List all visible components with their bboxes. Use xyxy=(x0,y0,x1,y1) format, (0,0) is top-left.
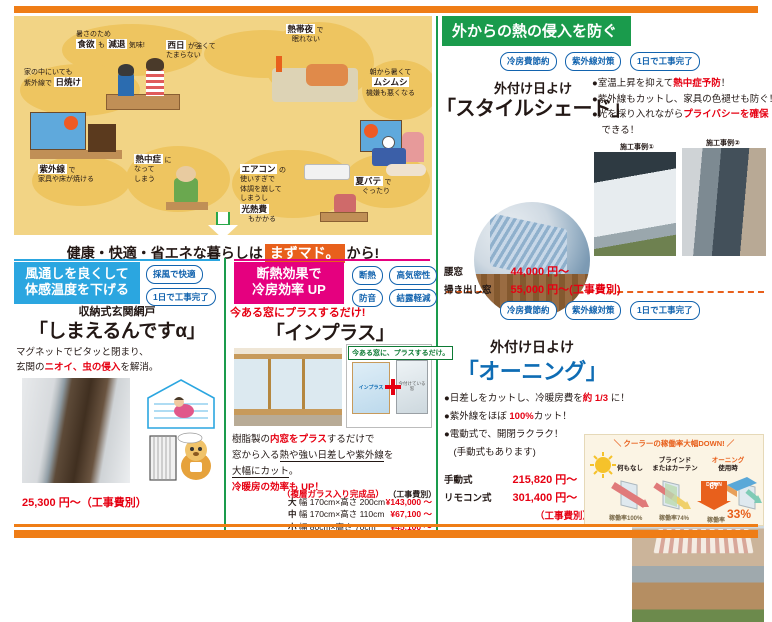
bullet-rb-1: ●紫外線をほぼ 100%カット！ xyxy=(444,408,614,426)
badge-rb-1[interactable]: 紫外線対策 xyxy=(565,301,622,320)
right-bottom-product-name: 「オーニング」 xyxy=(444,354,620,386)
bottom-orange-rule xyxy=(14,530,758,538)
middle-banner-line2: 冷房効率 UP xyxy=(244,282,334,298)
left-banner-line1: 風通しを良くして xyxy=(22,266,132,282)
cooler-label-0: 何もなし xyxy=(609,465,651,473)
plus-icon xyxy=(384,378,402,396)
top-orange-rule xyxy=(14,6,758,13)
photo-inplus-window xyxy=(234,348,342,426)
diagram-pane-existing-label: 今付けている窓 xyxy=(398,382,426,392)
infographic-cooler-usage: ＼ クーラーの稼働率大幅DOWN! ／ 何もなし ブラインドまたはカーテン オー… xyxy=(584,434,764,526)
illustration-child-table xyxy=(320,212,368,222)
badge-left-0[interactable]: 採風で快適 xyxy=(146,265,203,284)
vertical-separator-left xyxy=(224,258,226,530)
window-no-shade-icon xyxy=(611,479,651,511)
table-row: 大 幅 170cm×高さ 200cm ¥143,000 ～ xyxy=(288,496,432,508)
caption-indoor-sunburn: 家の中にいても 紫外線で 日焼け xyxy=(24,68,82,89)
caption-appetite: 暑さのため 食欲 も 減退 気味! xyxy=(76,30,145,51)
badge-rb-0[interactable]: 冷房費節約 xyxy=(500,301,557,320)
bullet-rt-3: できる！ xyxy=(592,123,770,139)
window-blind-icon xyxy=(653,479,697,511)
infographic-title: ＼ クーラーの稼働率大幅DOWN! ／ xyxy=(585,435,763,449)
right-top-bullets: ●室温上昇を抑えて熱中症予防！ ●紫外線もカットし、家具の色褪せも防ぐ！ ●光を… xyxy=(592,76,770,139)
cooler-foot-1: 稼働率74% xyxy=(659,513,689,522)
table-row: 中 幅 170cm×高さ 110cm ¥67,100 ～ xyxy=(288,508,432,520)
left-product-name: 「しまえるんですα」 xyxy=(10,316,224,343)
badge-middle-1[interactable]: 高気密性 xyxy=(389,266,437,285)
illustration-thermometer xyxy=(276,56,282,72)
bullet-rt-0: ●室温上昇を抑えて熱中症予防！ xyxy=(592,76,770,92)
left-desc-line2: 玄関のニオイ、虫の侵入を解消。 xyxy=(16,361,224,376)
middle-desc-0: 樹脂製の内窓をプラスするだけで xyxy=(232,432,432,448)
middle-desc-2: 大幅にカット。 xyxy=(232,464,432,480)
right-bottom-price-note: （工事費別） xyxy=(444,506,592,524)
caption-tropical-night: 熱帯夜 で 眠れない xyxy=(286,24,323,45)
left-top-rule xyxy=(14,259,220,261)
illustration-boy-head xyxy=(118,64,134,76)
illustration-girl xyxy=(146,68,164,96)
left-section-banner: 風通しを良くして 体感温度を下げる xyxy=(14,262,140,304)
case-label-1: 施工事例① xyxy=(620,142,654,152)
cooler-foot-2-pre: 稼働率 xyxy=(707,515,725,524)
illustration-blanket xyxy=(306,64,348,86)
photo-case-2 xyxy=(682,148,766,256)
photo-entrance-door xyxy=(22,378,130,483)
cooler-foot-2: 33% xyxy=(727,507,751,521)
middle-desc-1: 窓から入る熱や強い日差しや紫外線を xyxy=(232,448,432,464)
middle-product-section: 断熱効果で 冷房効率 UP xyxy=(234,262,344,304)
illustration-dresser xyxy=(88,124,116,152)
left-badges: 採風で快適 1日で工事完了 xyxy=(146,264,220,306)
illustration-window-uv xyxy=(30,112,86,150)
bullet-rt-1: ●紫外線もカットし、家具の色褪せも防ぐ！ xyxy=(592,92,770,108)
illustration-elder-head xyxy=(176,166,196,182)
table-row: 手動式 215,820 円～ xyxy=(444,470,592,488)
caption-uv-fading: 紫外線 で 家具や床が焼ける xyxy=(38,164,94,185)
caption-heatstroke: 熱中症 に なって しまう xyxy=(134,154,171,184)
table-row: 掃き出し窓 55,000 円～(工事費別) xyxy=(444,280,620,298)
middle-badges: 断熱 高気密性 防音 結露軽減 xyxy=(352,265,434,307)
badge-rb-2[interactable]: 1日で工事完了 xyxy=(630,301,700,320)
illustration-sun-1 xyxy=(64,116,78,130)
middle-section-banner: 断熱効果で 冷房効率 UP xyxy=(234,262,344,304)
diagram-airflow-house xyxy=(146,378,216,430)
caption-aircon-overuse: エアコン の 使いすぎで 体調を崩して しまうし 光熱費 もかかる xyxy=(240,164,286,225)
house-airflow-icon xyxy=(146,378,216,430)
diagram-pane-inner-label: インプラス xyxy=(354,384,388,391)
left-product-description: マグネットでピタッと閉まり、 玄関のニオイ、虫の侵入を解消。 xyxy=(16,346,224,375)
badge-middle-0[interactable]: 断熱 xyxy=(352,266,383,285)
bullet-rb-0: ●日差しをカットし、冷暖房費を約 1/3 に！ xyxy=(444,390,614,408)
caption-summer-fatigue: 夏バテ で ぐったり xyxy=(354,176,391,197)
left-product-section: 風通しを良くして 体感温度を下げる xyxy=(14,262,140,304)
illustration-aircon xyxy=(304,164,350,180)
cooler-foot-0: 稼働率100% xyxy=(609,513,642,522)
left-banner-line2: 体感温度を下げる xyxy=(22,282,132,298)
flyer-page: 暑さのため 食欲 も 減退 気味! 西日 が強くて たまらない 熱帯夜 で 眠れ… xyxy=(0,0,772,545)
case-label-2: 施工事例② xyxy=(706,138,740,148)
cooler-label-1: ブラインドまたはカーテン xyxy=(647,457,703,473)
right-top-banner-wrap: 外からの熱の侵入を防ぐ xyxy=(442,16,631,46)
diagram-screen-door-mascot xyxy=(146,432,218,486)
illustration-cat xyxy=(386,164,426,176)
right-top-price-table: 腰窓 44,000 円～ 掃き出し窓 55,000 円～(工事費別) xyxy=(444,262,620,298)
badge-rt-1[interactable]: 紫外線対策 xyxy=(565,52,622,71)
cooler-label-2: オーニング使用時 xyxy=(701,457,755,473)
illustration-elder-floor xyxy=(166,202,208,210)
down-percent-badge: 67%DOWN xyxy=(701,481,727,501)
bottom-orange-rule-thin xyxy=(14,524,758,527)
right-top-banner: 外からの熱の侵入を防ぐ xyxy=(442,16,631,46)
table-row: リモコン式 301,400 円～ xyxy=(444,488,592,506)
bullet-rt-2: ●光を採り入れながらプライバシーを確保 xyxy=(592,107,770,123)
hero-illustration-panel: 暑さのため 食欲 も 減退 気味! 西日 が強くて たまらない 熱帯夜 で 眠れ… xyxy=(14,16,432,235)
left-price: 25,300 円～（工事費別） xyxy=(22,494,147,510)
right-bottom-price-table: 手動式 215,820 円～ リモコン式 301,400 円～ （工事費別） xyxy=(444,470,592,524)
badge-rt-0[interactable]: 冷房費節約 xyxy=(500,52,557,71)
illustration-table xyxy=(106,94,180,110)
middle-product-name: 「インプラス」 xyxy=(230,318,430,345)
screen-door-mascot-icon xyxy=(146,432,218,486)
table-row: 腰窓 44,000 円～ xyxy=(444,262,620,280)
middle-banner-line1: 断熱効果で xyxy=(244,266,334,282)
middle-price-table: 大 幅 170cm×高さ 200cm ¥143,000 ～ 中 幅 170cm×… xyxy=(288,496,432,533)
caption-humid-morning: 朝から暑くて ムシムシ 機嫌も悪くなる xyxy=(366,68,415,98)
right-top-badges: 冷房費節約 紫外線対策 1日で工事完了 xyxy=(500,51,704,71)
badge-rt-2[interactable]: 1日で工事完了 xyxy=(630,52,700,71)
illustration-sun-2 xyxy=(364,124,378,138)
photo-case-1 xyxy=(594,152,676,256)
middle-top-rule xyxy=(234,259,430,261)
left-desc-line1: マグネットでピタッと閉まり、 xyxy=(16,346,224,361)
caption-afternoon-sun: 西日 が強くて たまらない xyxy=(166,40,216,61)
right-bottom-badges: 冷房費節約 紫外線対策 1日で工事完了 xyxy=(500,300,704,320)
illustration-child xyxy=(334,194,356,214)
badge-middle-3[interactable]: 結露軽減 xyxy=(389,289,437,308)
illustration-girl-head xyxy=(146,58,164,71)
diagram-inplus-tag: 今ある窓に、プラスするだけ。 xyxy=(348,346,453,360)
